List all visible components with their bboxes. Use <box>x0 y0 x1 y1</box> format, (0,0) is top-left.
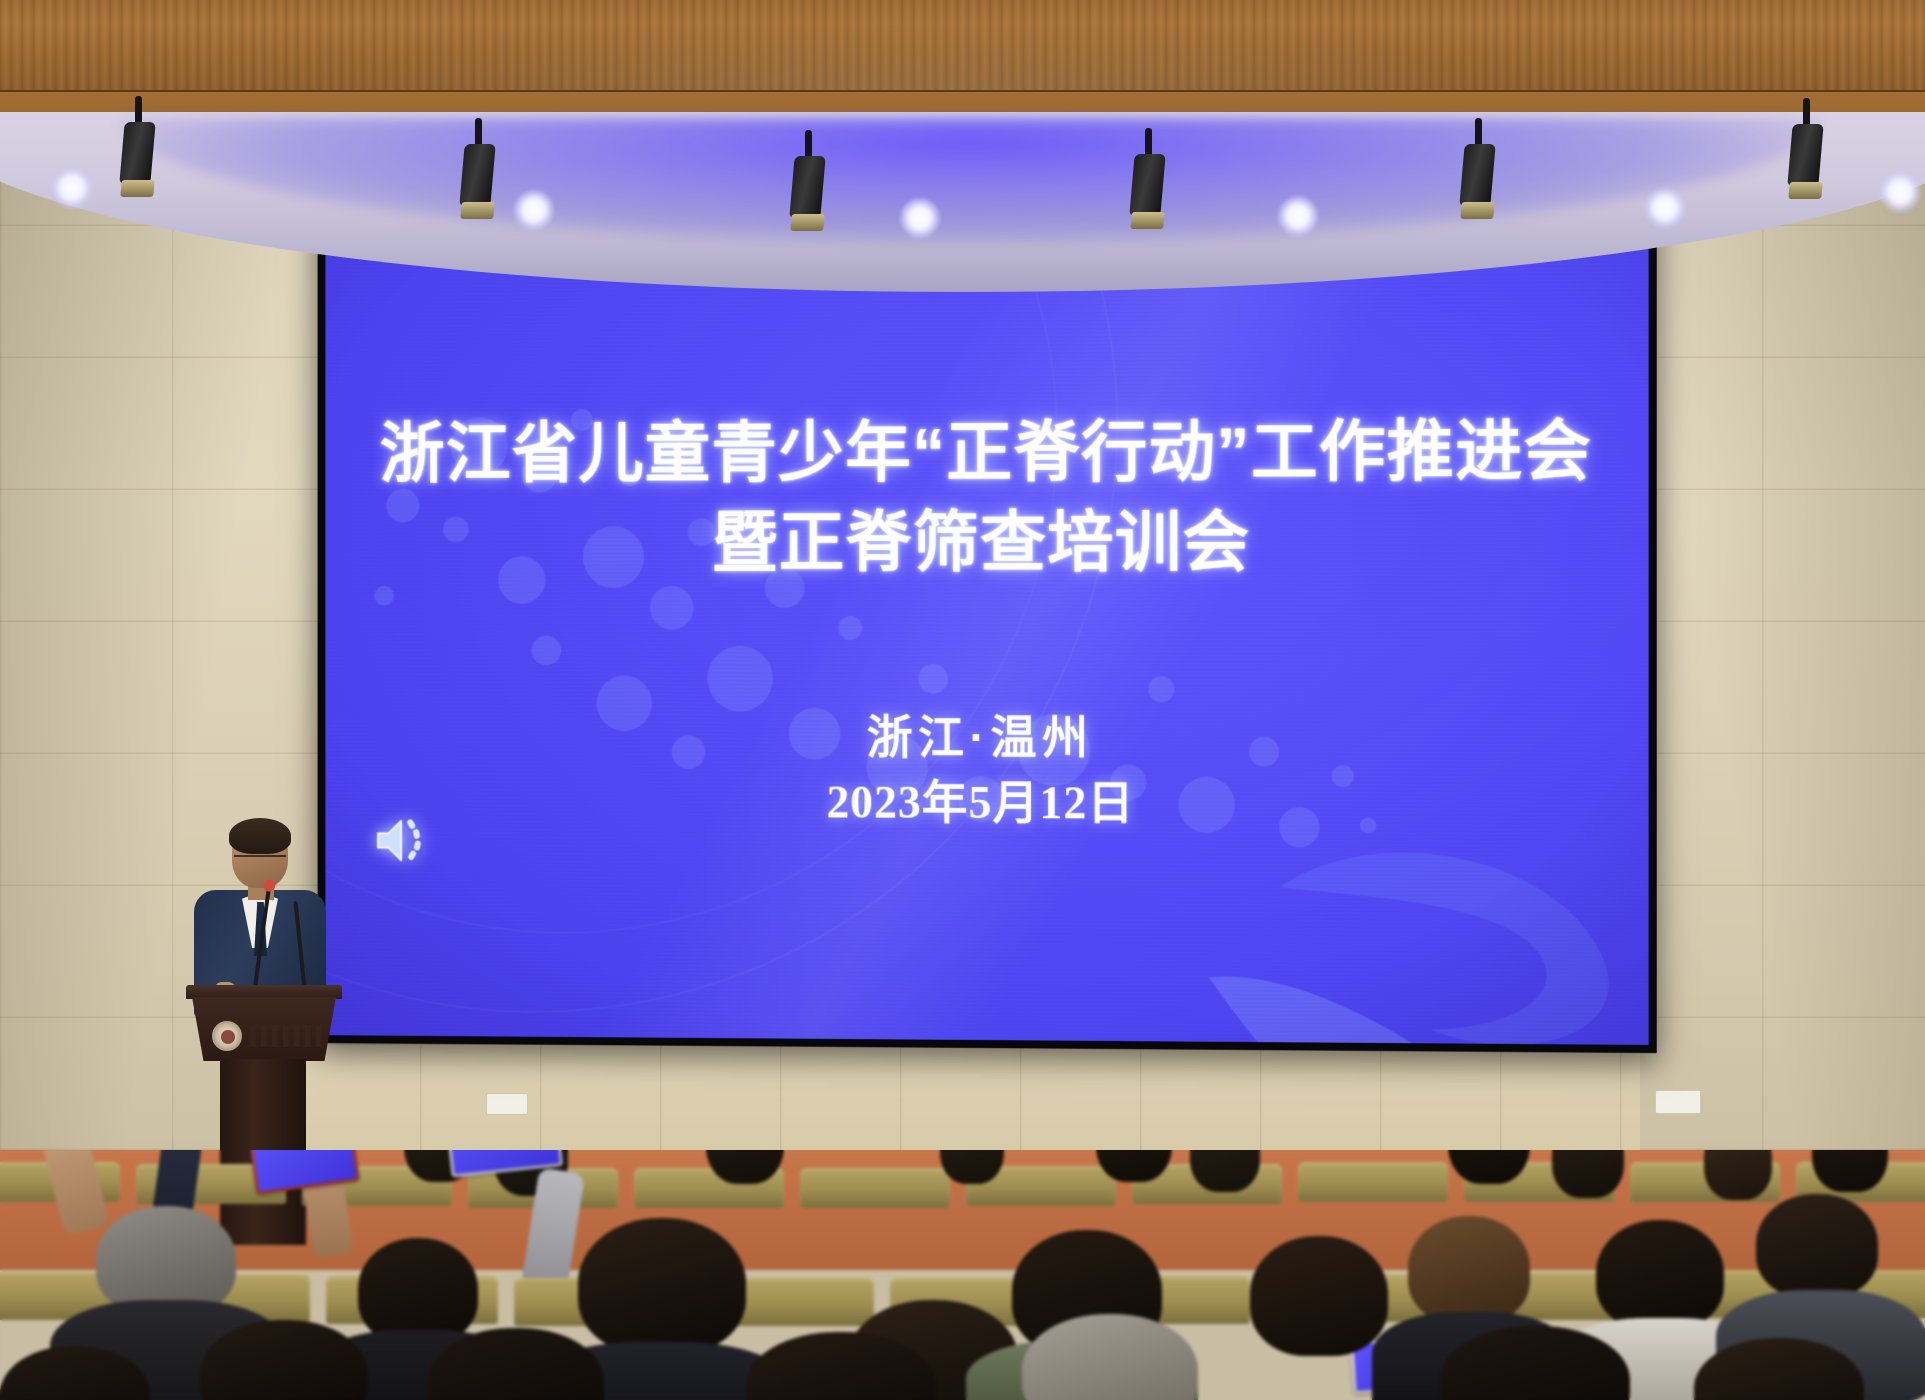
recessed-downlight <box>900 198 940 238</box>
audience-head <box>1552 1150 1624 1198</box>
auditorium-seat <box>800 1168 950 1208</box>
stage-spotlight <box>118 96 158 204</box>
stage-spotlight <box>1128 128 1168 236</box>
slide-place-text: 浙江·温州 <box>325 700 1648 769</box>
stage-spotlight <box>1786 98 1826 206</box>
presenter-glasses <box>234 855 286 864</box>
ceiling-wood-panel <box>0 0 1925 92</box>
volume-speaker-icon[interactable] <box>374 814 431 868</box>
podium-nameplate <box>250 1025 324 1047</box>
podium-front-panel <box>192 997 336 1061</box>
audience-head <box>358 1238 478 1344</box>
presenter <box>188 822 328 1012</box>
audience-head <box>1408 1216 1530 1324</box>
audience-head <box>1756 1194 1878 1298</box>
podium-top-surface <box>186 985 342 999</box>
recessed-downlight <box>1645 188 1685 228</box>
audience-head <box>1596 1220 1724 1330</box>
stage-spotlight <box>458 118 498 226</box>
recessed-downlight <box>52 168 92 208</box>
auditorium-seat <box>1298 1162 1448 1202</box>
recessed-downlight <box>1880 172 1920 212</box>
wall-outlet-plate-right <box>1655 1090 1701 1114</box>
audience-head <box>578 1218 746 1354</box>
auditorium-scene: 浙江省儿童青少年“正脊行动”工作推进会 暨正脊筛查培训会 浙江·温州 2023年… <box>0 0 1925 1400</box>
audience-area <box>0 1150 1925 1400</box>
stage-spotlight <box>1458 118 1498 226</box>
audience-head <box>1250 1236 1388 1356</box>
recessed-downlight <box>514 190 554 230</box>
audience-head <box>1704 1150 1772 1200</box>
slide-title-line-2: 暨正脊筛查培训会 <box>325 505 1648 580</box>
wall-outlet-plate-left <box>486 1093 528 1115</box>
recessed-downlight <box>1278 196 1318 236</box>
presenter-hair <box>229 818 291 854</box>
podium-emblem-icon <box>212 1021 242 1051</box>
stage-spotlight <box>788 130 828 238</box>
slide-date-text: 2023年5月12日 <box>325 764 1648 835</box>
slide-title-line-1: 浙江省儿童青少年“正脊行动”工作推进会 <box>325 414 1648 491</box>
